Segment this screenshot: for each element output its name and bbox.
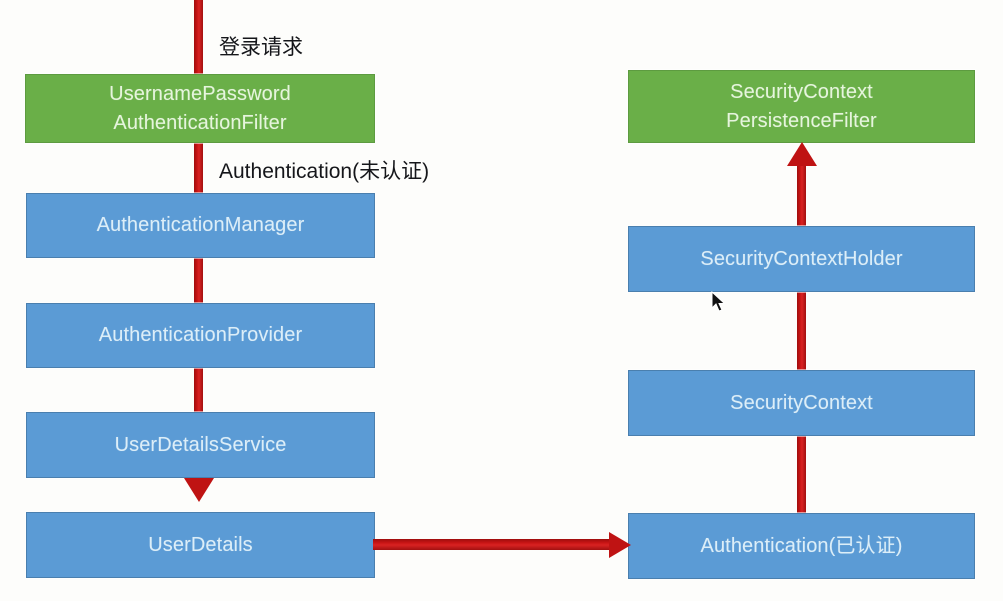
node-securitycontext[interactable]: SecurityContext [628,370,975,436]
node-userdetailsservice[interactable]: UserDetailsService [26,412,375,478]
node-authentication-verified[interactable]: Authentication(已认证) [628,513,975,579]
node-label: AuthenticationManager [89,211,313,239]
node-label: Authentication(已认证) [693,532,911,560]
arrowhead-holder-to-persistencefilter [787,142,817,166]
node-label: UserDetails [140,531,260,559]
node-label: SecurityContextHolder [692,245,910,273]
node-authenticationprovider[interactable]: AuthenticationProvider [26,303,375,368]
diagram-canvas: UsernamePassword AuthenticationFilter Au… [0,0,1003,601]
node-label: SecurityContext PersistenceFilter [718,78,885,135]
node-label: AuthenticationProvider [91,321,310,349]
node-label-line1: SecurityContext [730,81,873,103]
node-securitycontextpersistencefilter[interactable]: SecurityContext PersistenceFilter [628,70,975,143]
connector-userdetails-to-authentication [373,539,613,550]
caption-authentication-unverified: Authentication(未认证) [219,155,429,185]
node-label: UsernamePassword AuthenticationFilter [101,80,299,137]
caption-login-request: 登录请求 [219,31,303,61]
node-label: SecurityContext [722,389,881,417]
arrowhead-userdetails-to-authentication [609,532,631,558]
node-usernamepasswordauthenticationfilter[interactable]: UsernamePassword AuthenticationFilter [25,74,375,143]
node-label-line2: AuthenticationFilter [113,112,286,134]
node-securitycontextholder[interactable]: SecurityContextHolder [628,226,975,292]
node-label: UserDetailsService [107,431,295,459]
arrowhead-userdetailsservice-to-userdetails [184,478,214,502]
node-userdetails[interactable]: UserDetails [26,512,375,578]
node-label-line1: UsernamePassword [109,83,291,105]
node-label-line2: PersistenceFilter [726,110,877,132]
connector-right-vertical [797,166,806,521]
mouse-cursor-icon [711,291,727,313]
node-authenticationmanager[interactable]: AuthenticationManager [26,193,375,258]
